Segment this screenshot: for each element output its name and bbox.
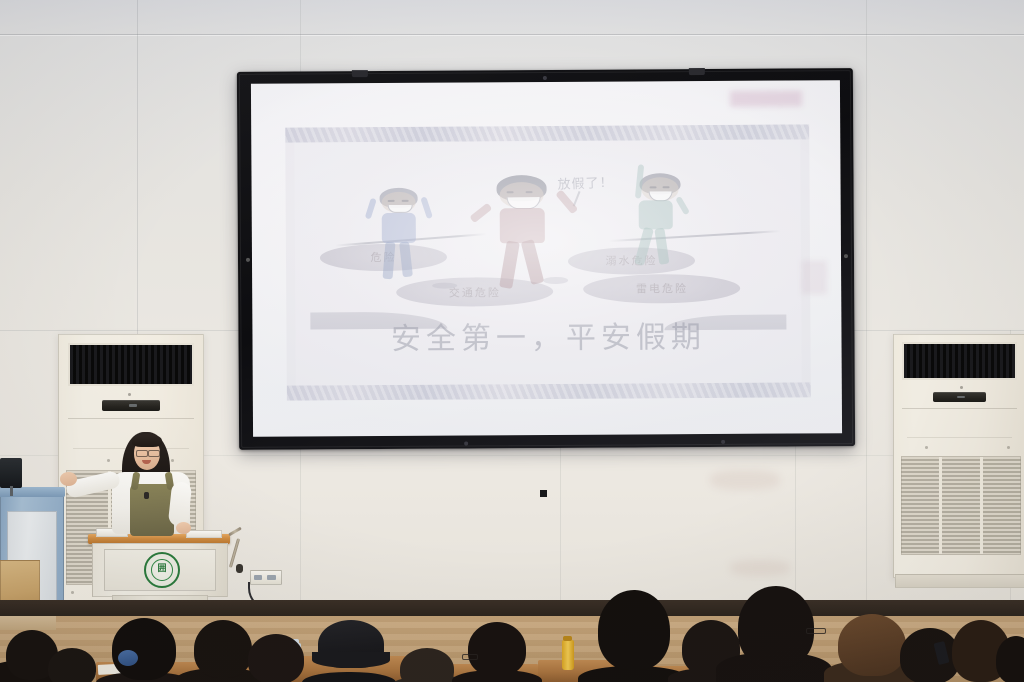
list-item	[838, 614, 906, 676]
screen-mount-dot	[543, 76, 547, 80]
wall-mounted-sensor	[540, 490, 547, 497]
list-item	[194, 620, 252, 678]
ac-intake-grille-icon	[68, 343, 195, 386]
slide-title: 安全第一，平安假期	[295, 312, 801, 359]
wall-stain	[730, 560, 790, 576]
presenter-apron	[130, 484, 174, 536]
ac-display-panel	[933, 392, 985, 402]
podium-papers	[186, 530, 222, 538]
drink-bottle-yellow	[562, 640, 574, 670]
projection-screen[interactable]: 放假了！ 危险 溺水危险 交通危险	[237, 68, 855, 450]
cap-brim	[312, 652, 390, 668]
outlet-socket	[254, 575, 262, 580]
kid-arm	[420, 196, 433, 219]
school-crest-glyph: 囲	[151, 559, 173, 581]
ac-screw	[1007, 446, 1010, 449]
ac-unit-right	[893, 334, 1024, 578]
list-item	[400, 648, 454, 682]
ac-louver-divider	[939, 457, 942, 554]
screen-mount-dot	[844, 254, 848, 258]
lecture-hall-photo: 放假了！ 危险 溺水危险 交通危险	[0, 0, 1024, 682]
slide-ellipse-label: 雷电危险	[636, 280, 688, 296]
ac-body-contour	[907, 437, 1012, 438]
slide-ellipse-lightning: 雷电危险	[584, 273, 741, 303]
ac-screw	[71, 591, 74, 594]
screen-mount-bracket	[352, 70, 368, 77]
kid-eye	[402, 200, 409, 202]
student-glasses-icon	[806, 628, 826, 634]
ac-body-contour	[902, 408, 1017, 409]
kid-eye	[663, 186, 670, 188]
floor-edge-left	[0, 616, 56, 630]
microphone-head	[236, 564, 243, 573]
wall-seam-vertical	[866, 0, 867, 620]
presenter-glasses-icon	[148, 450, 160, 457]
screen-surface: 放假了！ 危险 溺水危险 交通危险	[251, 80, 842, 437]
hair-scrunchie	[118, 650, 138, 666]
list-item	[738, 586, 814, 668]
list-item	[248, 634, 304, 682]
outlet-socket	[267, 575, 276, 580]
presentation-slide: 放假了！ 危险 溺水危险 交通危险	[285, 124, 811, 400]
screen-color-artifact	[730, 90, 802, 106]
ac-indicator-dot	[960, 386, 963, 389]
list-item	[468, 622, 526, 676]
student-glasses-icon	[462, 654, 478, 660]
presenter-clip-microphone	[144, 492, 149, 499]
ac-louver-divider	[980, 457, 983, 554]
slide-content-area: 放假了！ 危险 溺水危险 交通危险	[294, 139, 801, 385]
slide-character-kid-red	[482, 175, 564, 292]
slide-character-kid-teal	[618, 164, 689, 271]
kid-shirt	[638, 200, 672, 230]
kid-leg	[499, 241, 520, 289]
wall-seam-horizontal-highlight	[0, 35, 1024, 36]
presenter-glasses-icon	[136, 450, 148, 457]
slide-character-kid-blue	[365, 188, 431, 286]
list-item	[112, 618, 176, 680]
school-crest-emblem: 囲	[144, 552, 180, 588]
screen-mount-bracket	[689, 68, 705, 75]
presenter-hair-fringe	[132, 434, 162, 447]
list-item	[48, 648, 96, 682]
screen-mount-dot	[464, 441, 468, 445]
screen-mount-dot	[246, 258, 250, 262]
kid-leg	[521, 239, 545, 285]
kid-shirt	[381, 213, 416, 242]
list-item	[996, 636, 1024, 682]
screen-mount-dot	[721, 440, 725, 444]
kid-mouth	[388, 204, 412, 213]
list-item	[900, 628, 960, 682]
kid-arm	[469, 202, 492, 223]
presenter-hand	[60, 472, 77, 486]
bottle-cap	[563, 636, 572, 641]
presenter	[60, 428, 190, 540]
console-monitor	[0, 458, 22, 488]
list-item	[598, 590, 670, 670]
kid-leg	[634, 227, 654, 267]
kid-leg	[654, 228, 669, 265]
ac-display-readout	[129, 404, 137, 407]
wall-stain	[710, 470, 780, 490]
ac-display-panel	[102, 400, 160, 412]
slide-border-band-bottom	[287, 382, 811, 400]
ac-intake-grille-icon	[902, 342, 1017, 380]
ac-screw	[925, 446, 928, 449]
kid-shirt	[500, 208, 545, 243]
presenter-hand	[176, 522, 191, 534]
kid-leg	[399, 241, 413, 277]
ac-body-contour	[68, 418, 195, 419]
monitor-stand	[10, 486, 13, 496]
kid-eye	[387, 200, 394, 202]
ac-right-base	[895, 574, 1024, 588]
ac-indicator-dot	[128, 393, 131, 396]
kid-eye	[650, 186, 657, 188]
kid-arm	[365, 198, 377, 220]
ac-display-readout	[957, 396, 964, 398]
wall-seam-vertical	[560, 440, 561, 620]
ac-air-outlet-louvers	[901, 456, 1022, 555]
screen-color-artifact	[801, 260, 827, 294]
slide-speech-bubble-text: 放假了！	[557, 171, 614, 192]
kid-leg	[383, 241, 396, 279]
kid-arm	[675, 196, 690, 215]
